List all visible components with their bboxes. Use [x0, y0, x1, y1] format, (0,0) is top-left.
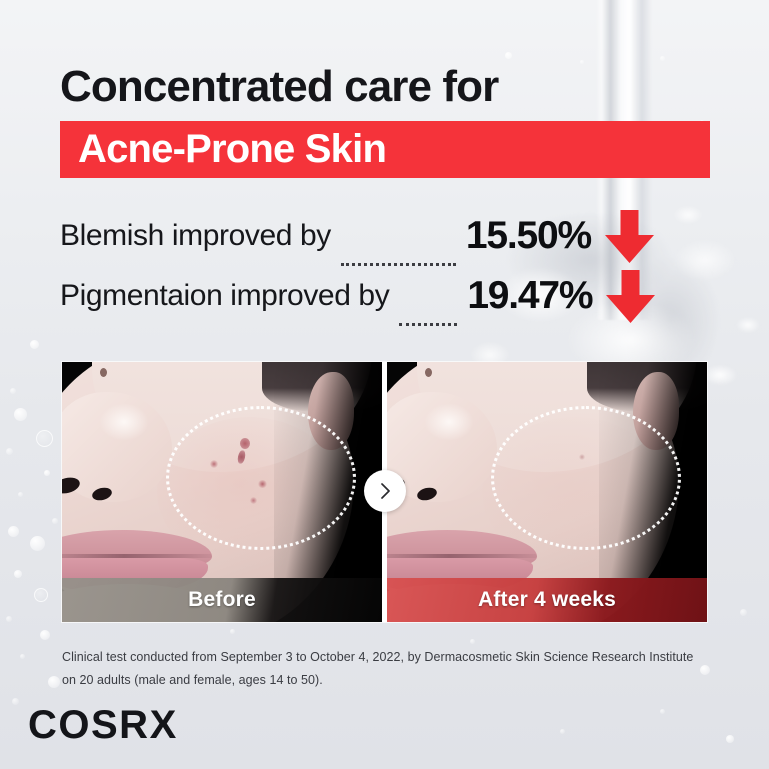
stat-label: Pigmentaion improved by	[60, 279, 389, 313]
before-caption-text: Before	[188, 588, 256, 612]
dotted-ellipse-marker	[491, 406, 681, 550]
stat-row-pigmentation: Pigmentaion improved by 19.47%	[60, 266, 710, 326]
after-caption-bar: After 4 weeks	[387, 578, 707, 622]
leader-dots	[341, 240, 456, 266]
after-caption-text: After 4 weeks	[478, 588, 616, 612]
brand-logo: COSRX	[28, 703, 178, 748]
after-photo-panel: After 4 weeks	[387, 362, 707, 622]
headline-banner-text: Acne-Prone Skin	[78, 127, 386, 172]
arrow-down-red-icon	[602, 268, 659, 325]
headline-banner: Acne-Prone Skin	[60, 121, 710, 178]
chevron-right-icon[interactable]	[364, 470, 406, 512]
before-photo-panel: Before	[62, 362, 382, 622]
before-caption-bar: Before	[62, 578, 382, 622]
stats-list: Blemish improved by 15.50% Pigmentaion i…	[60, 206, 710, 326]
stat-label: Blemish improved by	[60, 219, 331, 253]
page-title: Concentrated care for	[60, 64, 498, 110]
stat-value: 15.50%	[466, 214, 591, 258]
leader-dots	[399, 300, 457, 326]
arrow-down-red-icon	[601, 208, 658, 265]
clinical-test-footnote: Clinical test conducted from September 3…	[62, 646, 702, 692]
stat-row-blemish: Blemish improved by 15.50%	[60, 206, 710, 266]
stat-value: 19.47%	[467, 274, 592, 318]
skin-mark	[100, 368, 107, 377]
skin-mark	[425, 368, 432, 377]
dotted-ellipse-marker	[166, 406, 356, 550]
